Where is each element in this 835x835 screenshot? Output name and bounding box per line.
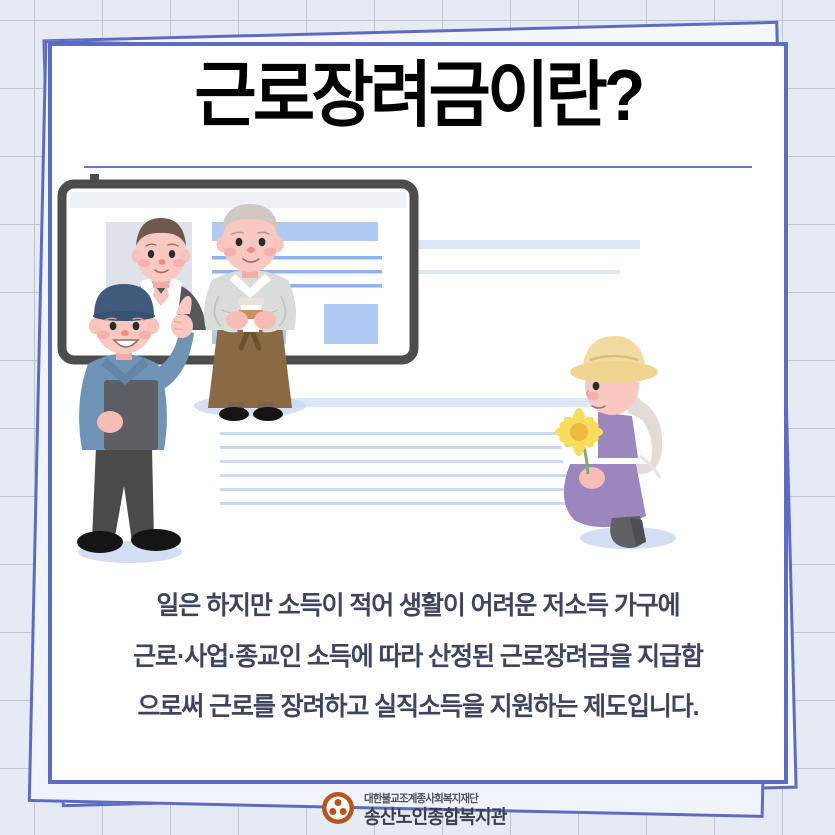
three-dot-circle-icon	[321, 791, 355, 830]
body-line-1: 일은 하지만 소득이 적어 생활이 어려운 저소득 가구에	[85, 594, 751, 620]
footer-text: 대한불교조계종사회복지재단 송산노인종합복지관	[364, 794, 514, 827]
straw-hat	[570, 336, 658, 383]
footer: 대한불교조계종사회복지재단 송산노인종합복지관	[0, 787, 835, 833]
page-title: 근로장려금이란?	[74, 60, 762, 133]
footer-center-name: 송산노인종합복지관	[364, 808, 507, 827]
main-card: 근로장려금이란?	[48, 42, 788, 784]
title-block: 근로장려금이란?	[52, 60, 784, 133]
card-stack: 근로장려금이란?	[0, 0, 835, 835]
title-divider	[84, 166, 752, 168]
figure-gardening-elder-woman	[555, 336, 676, 549]
body-line-3: 으로써 근로를 장려하고 실직소득을 지원하는 제도입니다.	[85, 695, 751, 721]
figure-pointing-elder-man	[77, 284, 194, 563]
illustration	[52, 174, 784, 594]
footer-organization: 대한불교조계종사회복지재단	[364, 794, 507, 805]
body-copy: 일은 하지만 소득이 적어 생활이 어려운 저소득 가구에 근로·사업·종교인 …	[78, 594, 758, 721]
body-line-2: 근로·사업·종교인 소득에 따라 산정된 근로장려금을 지급함	[85, 645, 751, 671]
